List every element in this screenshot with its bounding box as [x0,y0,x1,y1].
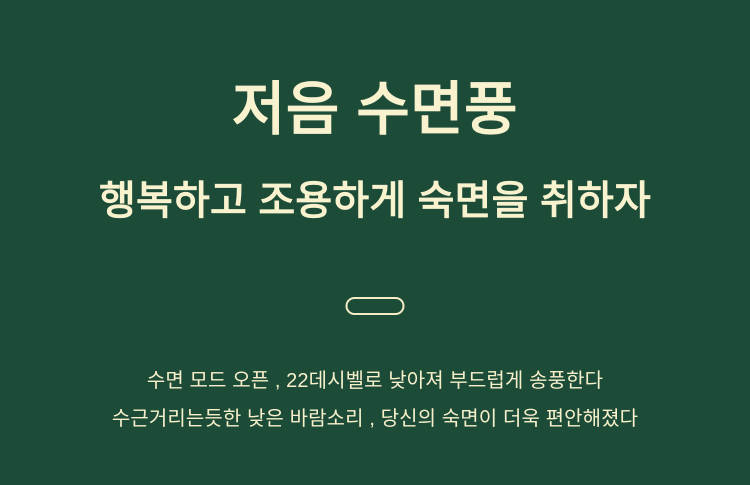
body-copy: 수면 모드 오픈 , 22데시벨로 낮아져 부드럽게 송풍한다 수근거리는듯한 … [0,362,750,438]
page-subtitle: 행복하고 조용하게 숙면을 취하자 [0,177,750,225]
pill-divider-icon [346,297,405,315]
page-title: 저음 수면풍 [0,78,750,142]
promo-banner: 저음 수면풍 행복하고 조용하게 숙면을 취하자 수면 모드 오픈 , 22데시… [0,0,750,485]
body-line-1: 수면 모드 오픈 , 22데시벨로 낮아져 부드럽게 송풍한다 [0,362,750,400]
body-line-2: 수근거리는듯한 낮은 바람소리 , 당신의 숙면이 더욱 편안해졌다 [0,400,750,438]
